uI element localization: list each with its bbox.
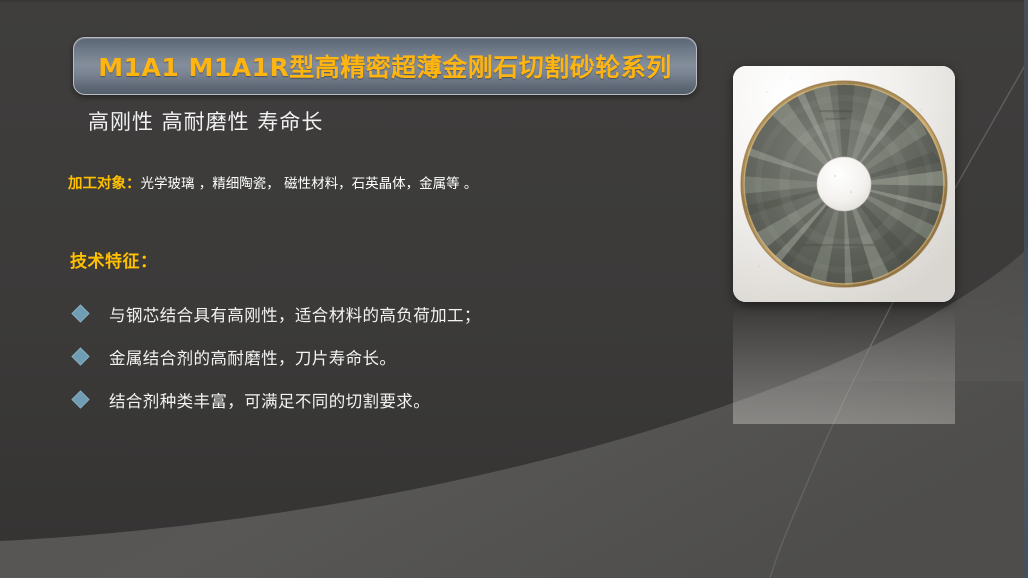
list-item-label: 金属结合剂的高耐磨性，刀片寿命长。 xyxy=(109,345,396,369)
features-heading: 技术特征： xyxy=(70,247,158,272)
processing-target-label: 加工对象： xyxy=(68,176,141,192)
diamond-bullet-icon xyxy=(71,390,89,408)
presentation-slide: M1A1 M1A1R型高精密超薄金刚石切割砂轮系列 高刚性 高耐磨性 寿命长 加… xyxy=(0,0,1028,578)
slide-title-text: M1A1 M1A1R型高精密超薄金刚石切割砂轮系列 xyxy=(98,48,672,84)
list-item: 结合剂种类丰富，可满足不同的切割要求。 xyxy=(72,378,672,421)
slide-subtitle: 高刚性 高耐磨性 寿命长 xyxy=(88,106,323,136)
slide-title-plaque: M1A1 M1A1R型高精密超薄金刚石切割砂轮系列 xyxy=(73,37,697,95)
processing-target-value: 光学玻璃 ，精细陶瓷， 磁性材料，石英晶体，金属等 。 xyxy=(141,176,478,192)
diamond-bullet-icon xyxy=(71,304,89,322)
list-item-label: 与钢芯结合具有高刚性，适合材料的高负荷加工； xyxy=(109,302,481,326)
list-item: 与钢芯结合具有高刚性，适合材料的高负荷加工； xyxy=(72,292,672,335)
slide-top-edge xyxy=(0,0,1028,2)
reflection-background xyxy=(733,304,955,424)
product-photo-reflection xyxy=(733,304,955,424)
slide-right-edge xyxy=(1024,0,1028,578)
processing-target-line: 加工对象：光学玻璃 ，精细陶瓷， 磁性材料，石英晶体，金属等 。 xyxy=(68,172,477,193)
features-list: 与钢芯结合具有高刚性，适合材料的高负荷加工； 金属结合剂的高耐磨性，刀片寿命长。… xyxy=(72,292,672,421)
product-photo xyxy=(733,66,955,302)
list-item-label: 结合剂种类丰富，可满足不同的切割要求。 xyxy=(109,388,430,412)
diamond-bullet-icon xyxy=(71,347,89,365)
list-item: 金属结合剂的高耐磨性，刀片寿命长。 xyxy=(72,335,672,378)
diamond-cutting-wheel-image xyxy=(733,66,955,302)
